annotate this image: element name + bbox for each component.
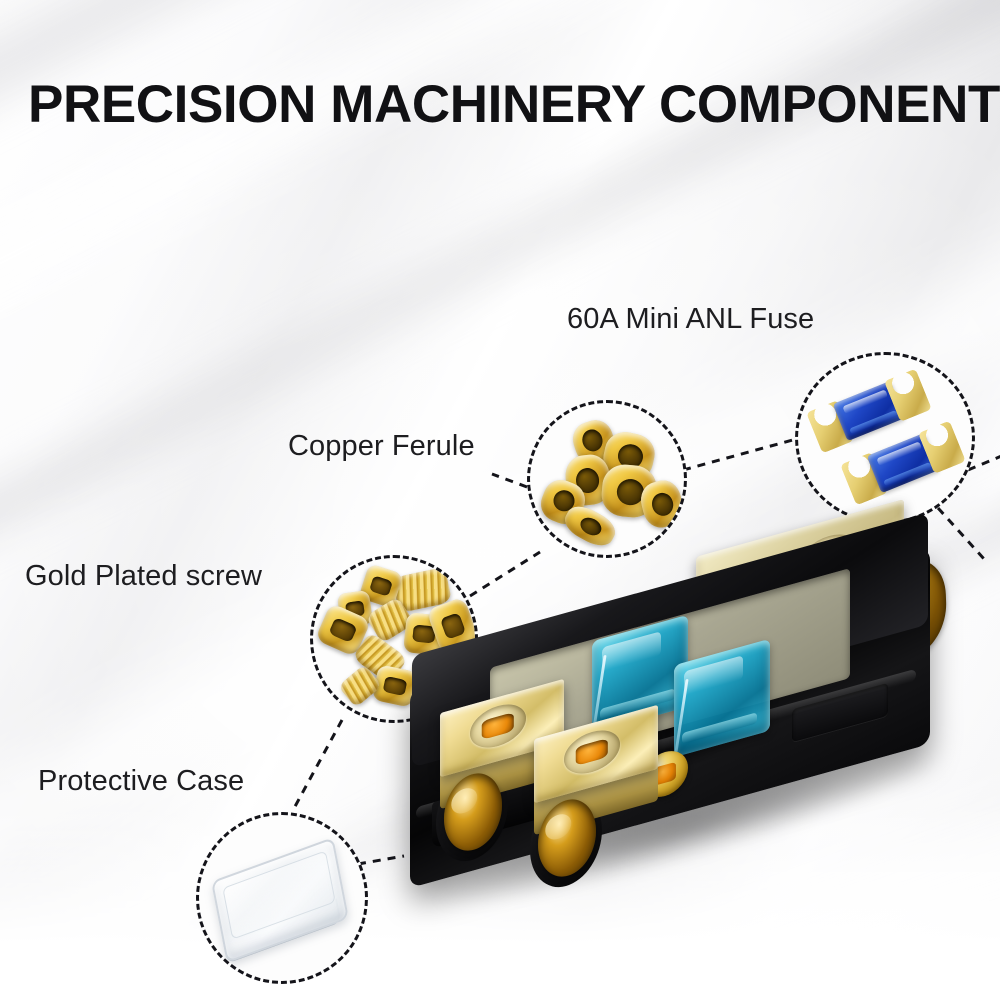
case-bubble-content [199,815,365,981]
callout-label-screw: Gold Plated screw [25,560,262,593]
callout-label-case: Protective Case [38,765,244,798]
infographic-canvas: PRECISION MACHINERY COMPONENTS 60A Mini … [0,0,1000,1000]
callout-label-ferule: Copper Ferule [288,430,475,463]
fuse-bubble-content [798,355,972,521]
page-title: PRECISION MACHINERY COMPONENTS [28,78,980,131]
product-fuse-holder [404,500,1000,920]
callout-label-fuse: 60A Mini ANL Fuse [567,303,814,336]
callout-bubble-case [196,812,368,984]
callout-bubble-fuse [795,352,975,524]
